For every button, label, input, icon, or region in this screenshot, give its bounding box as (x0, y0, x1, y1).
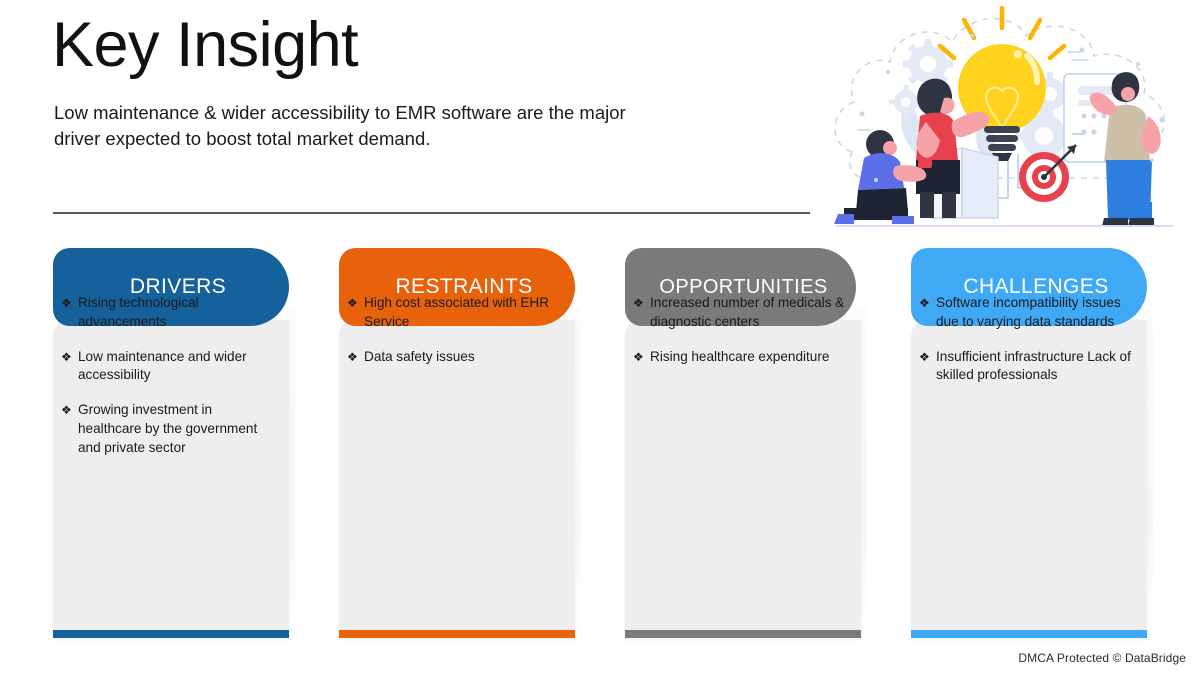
card-bullet-list: ❖ Rising technological advancements ❖ Lo… (53, 294, 289, 473)
diamond-bullet-icon: ❖ (347, 348, 364, 367)
diamond-bullet-icon: ❖ (61, 294, 78, 313)
idea-lightbulb-teamwork-illustration (822, 2, 1194, 236)
header-divider (53, 212, 810, 214)
list-item: ❖ Growing investment in healthcare by th… (61, 401, 275, 457)
target-with-arrow (1019, 145, 1076, 202)
list-item-text: Software incompatibility issues due to v… (936, 294, 1133, 332)
list-item: ❖ Insufficient infrastructure Lack of sk… (919, 348, 1133, 386)
card-bottom-bar (911, 630, 1147, 638)
diamond-bullet-icon: ❖ (61, 348, 78, 367)
card-bottom-bar (625, 630, 861, 638)
list-item: ❖ Data safety issues (347, 348, 561, 367)
list-item: ❖ Rising technological advancements (61, 294, 275, 332)
list-item-text: Insufficient infrastructure Lack of skil… (936, 348, 1133, 386)
card-bullet-list: ❖ High cost associated with EHR Service … (339, 294, 575, 382)
card-bottom-bar (339, 630, 575, 638)
list-item: ❖ Low maintenance and wider accessibilit… (61, 348, 275, 386)
card-bullet-list: ❖ Increased number of medicals & diagnos… (625, 294, 861, 382)
page-subtitle: Low maintenance & wider accessibility to… (54, 100, 654, 153)
list-item: ❖ High cost associated with EHR Service (347, 294, 561, 332)
diamond-bullet-icon: ❖ (919, 348, 936, 367)
card-bottom-bar (53, 630, 289, 638)
list-item-text: Rising technological advancements (78, 294, 275, 332)
slide-canvas: Key Insight Low maintenance & wider acce… (0, 0, 1200, 675)
list-item: ❖ Software incompatibility issues due to… (919, 294, 1133, 332)
diamond-bullet-icon: ❖ (61, 401, 78, 420)
card-challenges[interactable]: CHALLENGES ❖ Software incompatibility is… (911, 248, 1147, 646)
card-restraints[interactable]: RESTRAINTS ❖ High cost associated with E… (339, 248, 575, 646)
list-item: ❖ Increased number of medicals & diagnos… (633, 294, 847, 332)
card-opportunities[interactable]: OPPORTUNITIES ❖ Increased number of medi… (625, 248, 861, 646)
card-bullet-list: ❖ Software incompatibility issues due to… (911, 294, 1147, 401)
diamond-bullet-icon: ❖ (633, 294, 650, 313)
diamond-bullet-icon: ❖ (919, 294, 936, 313)
list-item-text: Data safety issues (364, 348, 561, 367)
page-title: Key Insight (52, 12, 358, 78)
insight-cards-row: DRIVERS ❖ Rising technological advanceme… (0, 248, 1200, 646)
list-item-text: High cost associated with EHR Service (364, 294, 561, 332)
diamond-bullet-icon: ❖ (347, 294, 364, 313)
list-item-text: Low maintenance and wider accessibility (78, 348, 275, 386)
footer-copyright: DMCA Protected © DataBridge (1018, 651, 1186, 665)
diamond-bullet-icon: ❖ (633, 348, 650, 367)
card-drivers[interactable]: DRIVERS ❖ Rising technological advanceme… (53, 248, 289, 646)
list-item: ❖ Rising healthcare expenditure (633, 348, 847, 367)
list-item-text: Increased number of medicals & diagnosti… (650, 294, 847, 332)
list-item-text: Rising healthcare expenditure (650, 348, 847, 367)
list-item-text: Growing investment in healthcare by the … (78, 401, 275, 457)
